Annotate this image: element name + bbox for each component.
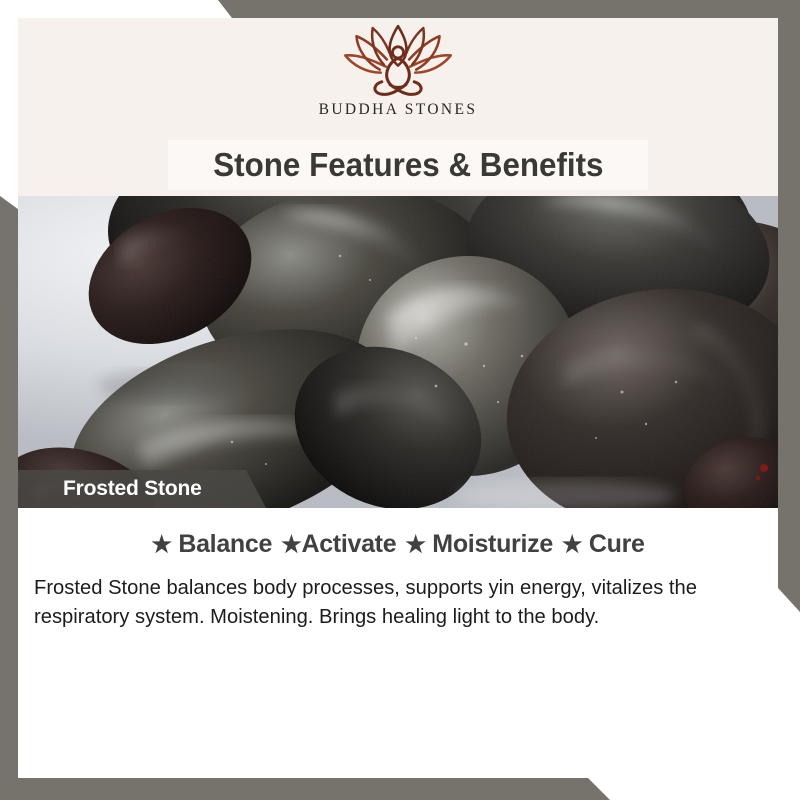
brand-logo: BUDDHA STONES (18, 22, 778, 134)
frame-band-bottom (0, 778, 800, 800)
photo-caption-label: Frosted Stone (63, 477, 202, 501)
frame-band-right (778, 0, 800, 612)
benefit-item-cure: ★ Cure (562, 530, 645, 558)
header: BUDDHA STONES Stone Features & Benefits (18, 18, 778, 196)
title-strip: Stone Features & Benefits (168, 140, 648, 190)
star-icon: ★ (405, 531, 425, 557)
product-info-poster: BUDDHA STONES Stone Features & Benefits (0, 0, 800, 800)
photo-caption-banner: Frosted Stone (18, 470, 266, 508)
benefit-item-balance: ★ Balance (151, 530, 272, 558)
benefit-label-activate: Activate (301, 530, 396, 558)
benefits-list: ★ Balance★Activate★ Moisturize★ Cure (18, 530, 778, 559)
page-title: Stone Features & Benefits (213, 146, 603, 184)
benefit-label-cure: Cure (589, 530, 645, 558)
frame-band-top (0, 0, 800, 18)
benefit-item-moisturize: ★ Moisturize (405, 530, 553, 558)
star-icon: ★ (151, 531, 171, 557)
benefit-label-balance: Balance (178, 530, 272, 558)
content-section: ★ Balance★Activate★ Moisturize★ Cure Fro… (18, 508, 778, 631)
brand-name: BUDDHA STONES (319, 101, 478, 119)
page-surface: BUDDHA STONES Stone Features & Benefits (18, 18, 778, 778)
star-icon: ★ (281, 531, 301, 557)
benefit-label-moisturize: Moisturize (432, 530, 553, 558)
lotus-meditation-icon (336, 22, 460, 98)
frosted-stone-photo: Frosted Stone (18, 196, 778, 508)
star-icon: ★ (562, 531, 582, 557)
description-text: Frosted Stone balances body processes, s… (34, 573, 751, 631)
benefit-item-activate: ★Activate (281, 530, 396, 558)
